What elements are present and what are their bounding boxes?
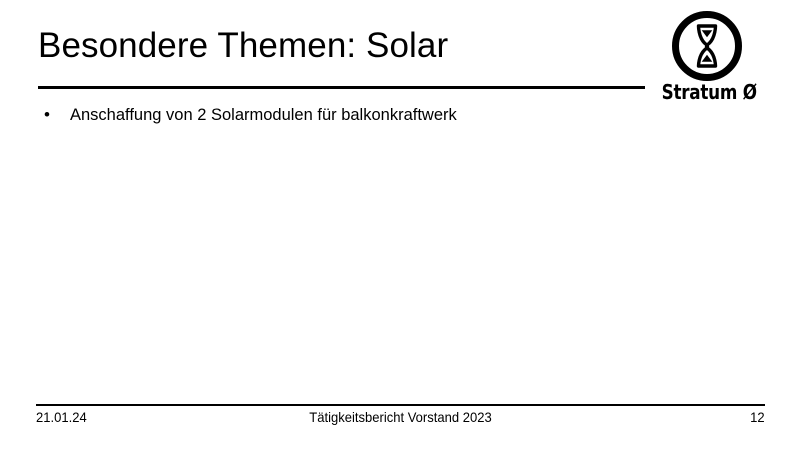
stratum-0-logo: Stratum Ø bbox=[653, 6, 761, 106]
list-item: • Anschaffung von 2 Solarmodulen für bal… bbox=[38, 103, 638, 127]
page-title: Besondere Themen: Solar bbox=[38, 23, 638, 69]
footer-page-number: 12 bbox=[751, 407, 765, 427]
logo-wordmark: Stratum Ø bbox=[662, 80, 753, 104]
bullet-list: • Anschaffung von 2 Solarmodulen für bal… bbox=[38, 103, 638, 127]
hourglass-in-circle-icon bbox=[671, 10, 743, 82]
list-item-label: Anschaffung von 2 Solarmodulen für balko… bbox=[70, 103, 638, 127]
title-divider bbox=[38, 86, 645, 89]
bullet-point-icon: • bbox=[38, 103, 70, 127]
footer-document-title: Tätigkeitsbericht Vorstand 2023 bbox=[62, 407, 740, 427]
presentation-slide: Besondere Themen: Solar • Anschaffung vo… bbox=[0, 0, 800, 450]
footer-divider bbox=[36, 404, 765, 406]
slide-footer: 21.01.24 Tätigkeitsbericht Vorstand 2023… bbox=[36, 407, 765, 429]
